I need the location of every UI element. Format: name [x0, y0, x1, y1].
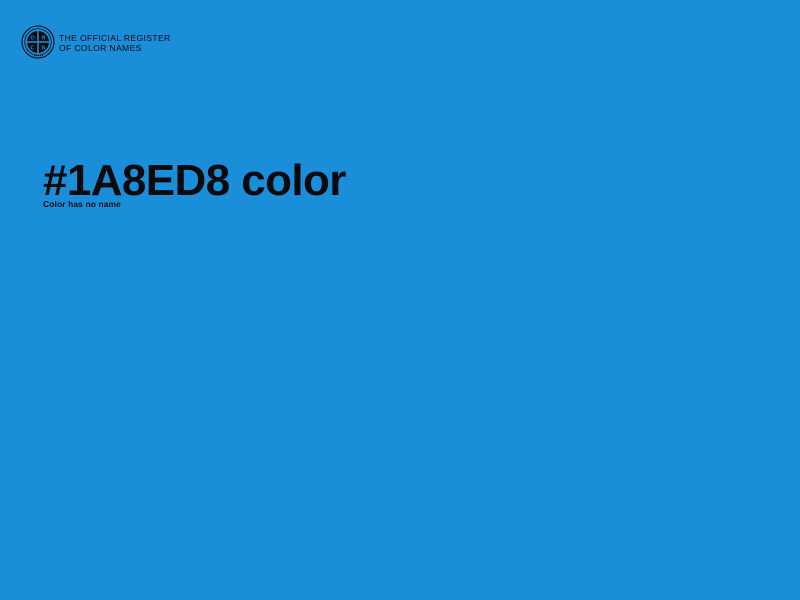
svg-text:C: C: [31, 46, 35, 52]
brand-lockup[interactable]: O R C N THE OFFICIAL REGISTER OF COLOR N…: [21, 25, 171, 59]
brand-line-2: OF COLOR NAMES: [59, 43, 171, 53]
color-page: O R C N THE OFFICIAL REGISTER OF COLOR N…: [0, 0, 800, 600]
register-seal-icon: O R C N: [21, 25, 55, 59]
svg-text:N: N: [42, 46, 46, 52]
brand-line-1: THE OFFICIAL REGISTER: [59, 33, 171, 43]
brand-wordmark: THE OFFICIAL REGISTER OF COLOR NAMES: [59, 32, 171, 53]
svg-text:R: R: [42, 36, 46, 42]
color-name-status: Color has no name: [43, 199, 121, 209]
svg-text:O: O: [30, 36, 35, 42]
